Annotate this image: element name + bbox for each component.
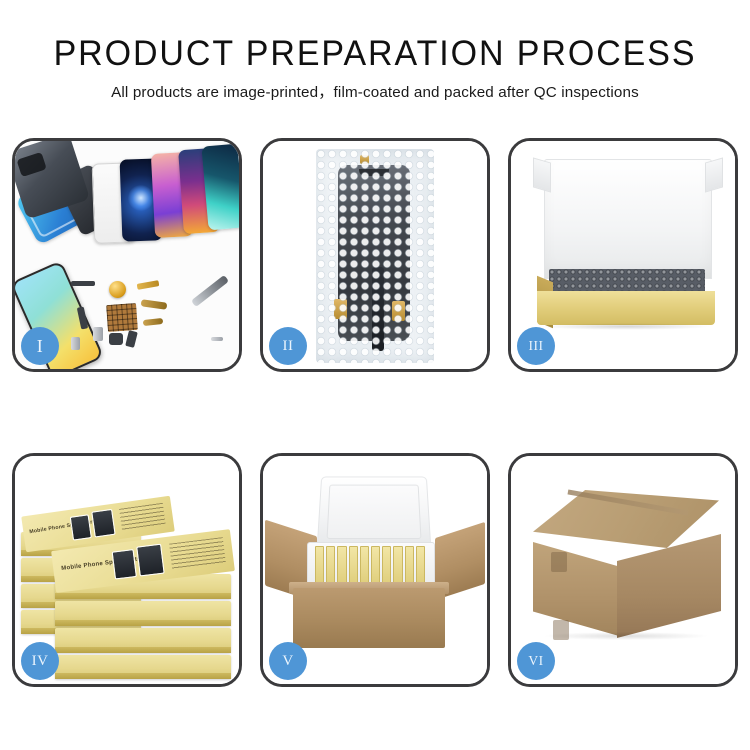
step-badge-5: V xyxy=(269,642,307,680)
screwdriver-tool-image xyxy=(191,275,229,307)
box-drop-shadow xyxy=(541,323,711,330)
step-badge-2: II xyxy=(269,327,307,365)
box-stack: Mobile Phone Spare Parts Mobile Phone Sp… xyxy=(21,478,237,674)
box-art-swatch-3 xyxy=(112,549,137,579)
spare-part-bracket-3 xyxy=(71,337,80,350)
poly-bag-image xyxy=(316,149,434,363)
styrofoam-lid-image xyxy=(317,477,432,549)
box-lid-white-image xyxy=(544,159,712,279)
spare-part-screw-set xyxy=(211,337,223,341)
step-panel-1[interactable]: I xyxy=(12,138,242,372)
process-step-grid: I II xyxy=(12,138,738,687)
spare-part-flex-1 xyxy=(137,280,160,290)
bubble-texture xyxy=(316,149,434,363)
logic-board-chip-image xyxy=(106,303,138,332)
vibration-motor-icon xyxy=(109,281,126,298)
box-spec-lines-front xyxy=(169,537,226,569)
spare-part-bracket-1 xyxy=(93,327,103,341)
page-subtitle: All products are image-printed，film-coat… xyxy=(0,85,750,102)
step-badge-4: IV xyxy=(21,642,59,680)
carton-right-face xyxy=(617,534,721,638)
box-art-swatch-4 xyxy=(136,544,164,577)
carton-front-panel xyxy=(293,588,445,648)
spare-part-strip-1 xyxy=(71,281,95,286)
step-panel-3[interactable]: III xyxy=(508,138,738,372)
step-panel-2[interactable]: II xyxy=(260,138,490,372)
page-title: PRODUCT PREPARATION PROCESS xyxy=(11,36,739,71)
step-panel-6[interactable]: VI xyxy=(508,453,738,687)
spare-part-camera xyxy=(109,333,123,345)
spare-part-bracket-2 xyxy=(125,330,138,348)
carton-drop-shadow xyxy=(545,632,707,640)
step-panel-5[interactable]: V xyxy=(260,453,490,687)
carton-tab-upper xyxy=(551,552,567,572)
carton-left-face xyxy=(533,542,619,636)
stacked-box-edge-6 xyxy=(55,601,231,626)
step-badge-3: III xyxy=(517,327,555,365)
phone-teal-wave-image xyxy=(201,144,239,231)
box-art-swatch-2 xyxy=(91,509,115,538)
spare-part-flex-2 xyxy=(141,299,168,310)
spare-part-flex-3 xyxy=(143,318,164,326)
stacked-box-edge-7 xyxy=(55,628,231,653)
step-badge-1: I xyxy=(21,327,59,365)
box-art-swatch-1 xyxy=(70,514,92,540)
box-front-kraft-image xyxy=(537,291,715,325)
step-badge-6: VI xyxy=(517,642,555,680)
box-spec-lines-back xyxy=(119,503,166,531)
page-header: PRODUCT PREPARATION PROCESS All products… xyxy=(0,0,750,102)
step-panel-4[interactable]: Mobile Phone Spare Parts Mobile Phone Sp… xyxy=(12,453,242,687)
stacked-box-edge-8 xyxy=(55,655,231,679)
